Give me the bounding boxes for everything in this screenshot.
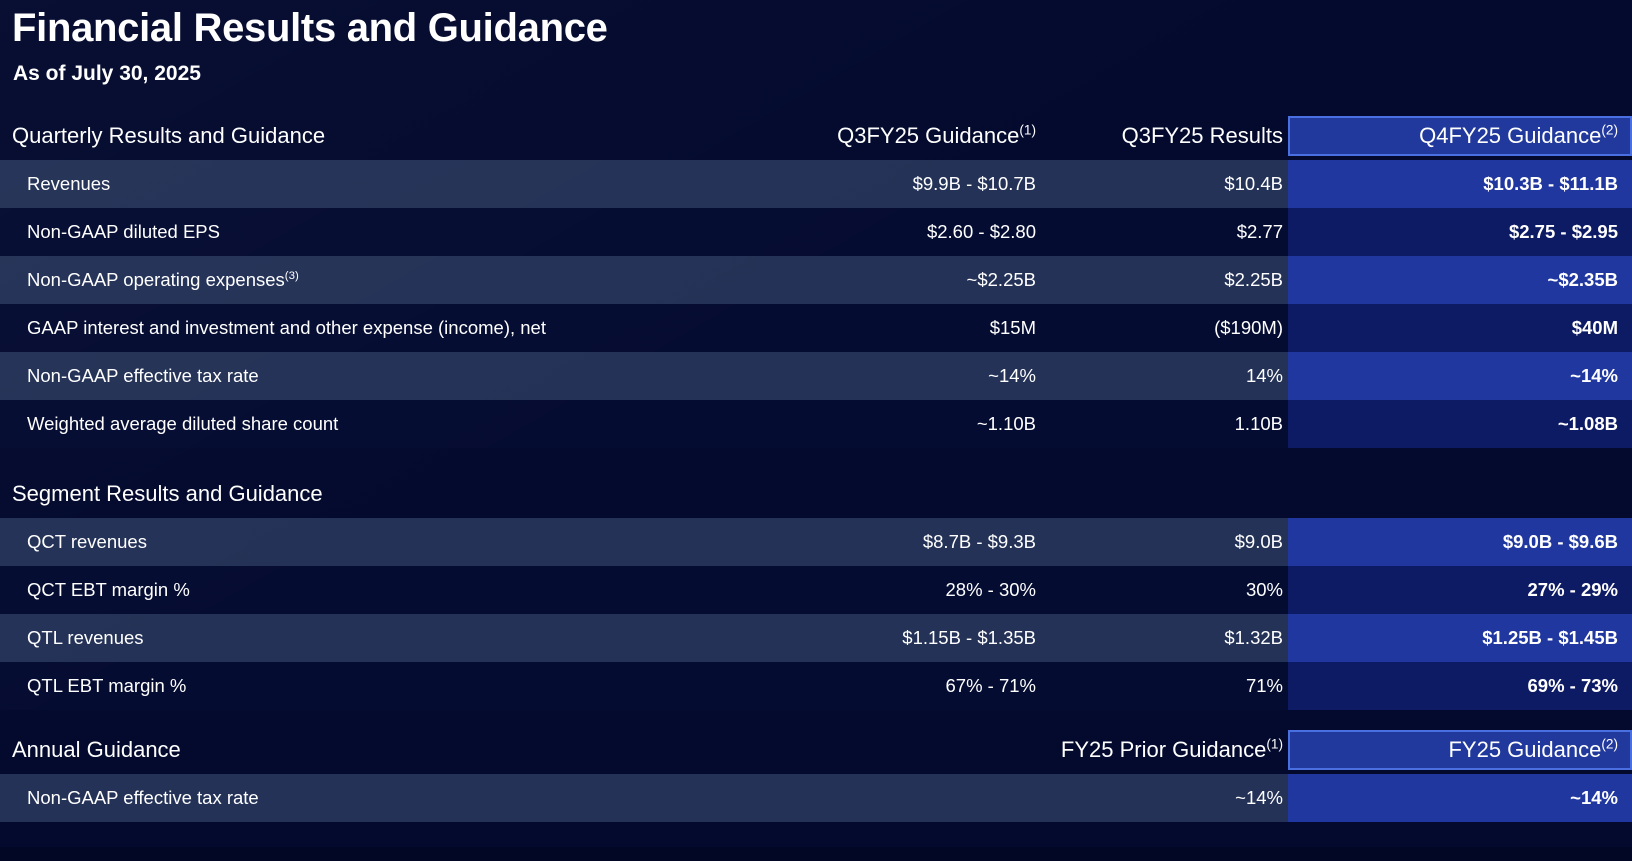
page-title: Financial Results and Guidance: [12, 2, 608, 54]
row-label: Revenues: [0, 173, 810, 195]
footnote-marker-3: (3): [285, 270, 299, 282]
quarterly-results-table: Quarterly Results and Guidance Q3FY25 Gu…: [0, 112, 1632, 448]
column-header-q3-guidance-text: Q3FY25 Guidance: [837, 123, 1019, 148]
column-header-q4-guidance-text: Q4FY25 Guidance: [1419, 123, 1601, 148]
row-value-results: $2.25B: [1036, 269, 1288, 291]
row-value-results: $1.32B: [1036, 627, 1288, 649]
table-row: QTL revenues$1.15B - $1.35B$1.32B$1.25B …: [0, 614, 1632, 662]
row-value-next-guidance: ~14%: [1288, 365, 1632, 387]
footnote-marker-2-annual: (2): [1601, 737, 1618, 752]
column-header-fy25-current-text: FY25 Guidance: [1448, 737, 1601, 762]
slide-root: Financial Results and Guidance As of Jul…: [0, 0, 1632, 861]
page-subtitle: As of July 30, 2025: [13, 60, 201, 88]
segment-header-row: Segment Results and Guidance: [0, 470, 1632, 518]
table-row: Weighted average diluted share count~1.1…: [0, 400, 1632, 448]
row-label-text: Revenues: [27, 173, 110, 194]
row-label-text: Weighted average diluted share count: [27, 413, 338, 434]
table-row: QCT revenues$8.7B - $9.3B$9.0B$9.0B - $9…: [0, 518, 1632, 566]
quarterly-header-row: Quarterly Results and Guidance Q3FY25 Gu…: [0, 112, 1632, 160]
row-value-next-guidance: $1.25B - $1.45B: [1288, 627, 1632, 649]
row-label: Non-GAAP operating expenses(3): [0, 269, 810, 291]
column-header-fy25-prior: FY25 Prior Guidance(1): [1036, 737, 1288, 763]
column-header-fy25-prior-text: FY25 Prior Guidance: [1061, 737, 1266, 762]
row-value-guidance: ~14%: [810, 365, 1036, 387]
row-label: QCT revenues: [0, 531, 810, 553]
row-value-next-guidance: $2.75 - $2.95: [1288, 221, 1632, 243]
column-header-q3-guidance: Q3FY25 Guidance(1): [810, 123, 1036, 149]
row-label-text: Non-GAAP diluted EPS: [27, 221, 220, 242]
row-value-guidance: $8.7B - $9.3B: [810, 531, 1036, 553]
row-value-next-guidance: $10.3B - $11.1B: [1288, 173, 1632, 195]
row-value-next-guidance: 69% - 73%: [1288, 675, 1632, 697]
row-label: Non-GAAP diluted EPS: [0, 221, 810, 243]
row-label: Non-GAAP effective tax rate: [0, 787, 810, 809]
segment-section-label: Segment Results and Guidance: [0, 481, 810, 507]
column-header-q3-results: Q3FY25 Results: [1036, 123, 1288, 149]
row-value-results: $9.0B: [1036, 531, 1288, 553]
row-value-next-guidance: ~$2.35B: [1288, 269, 1632, 291]
table-row: QTL EBT margin %67% - 71%71%69% - 73%: [0, 662, 1632, 710]
row-value-results: 71%: [1036, 675, 1288, 697]
footnote-marker-2: (2): [1601, 123, 1618, 138]
footnote-marker-1-annual: (1): [1266, 737, 1283, 752]
row-label: Non-GAAP effective tax rate: [0, 365, 810, 387]
row-label: GAAP interest and investment and other e…: [0, 317, 810, 339]
table-row: Revenues$9.9B - $10.7B$10.4B$10.3B - $11…: [0, 160, 1632, 208]
row-value-next-guidance: ~1.08B: [1288, 413, 1632, 435]
row-label-text: GAAP interest and investment and other e…: [27, 317, 546, 338]
column-header-q4-guidance: Q4FY25 Guidance(2): [1288, 123, 1632, 149]
row-value-results: ~14%: [1036, 787, 1288, 809]
row-value-next-guidance: $40M: [1288, 317, 1632, 339]
row-label-text: Non-GAAP effective tax rate: [27, 787, 259, 808]
row-label: Weighted average diluted share count: [0, 413, 810, 435]
row-value-guidance: $1.15B - $1.35B: [810, 627, 1036, 649]
row-label: QCT EBT margin %: [0, 579, 810, 601]
row-label-text: Non-GAAP operating expenses: [27, 269, 285, 290]
annual-header-row: Annual Guidance FY25 Prior Guidance(1) F…: [0, 726, 1632, 774]
row-value-guidance: 28% - 30%: [810, 579, 1036, 601]
row-value-guidance: $9.9B - $10.7B: [810, 173, 1036, 195]
row-value-guidance: ~1.10B: [810, 413, 1036, 435]
table-row: Non-GAAP effective tax rate~14%~14%: [0, 774, 1632, 822]
row-value-next-guidance: ~14%: [1288, 787, 1632, 809]
row-value-guidance: 67% - 71%: [810, 675, 1036, 697]
row-value-guidance: ~$2.25B: [810, 269, 1036, 291]
row-label: QTL revenues: [0, 627, 810, 649]
row-label-text: Non-GAAP effective tax rate: [27, 365, 259, 386]
row-value-results: ($190M): [1036, 317, 1288, 339]
row-value-next-guidance: 27% - 29%: [1288, 579, 1632, 601]
footnote-marker-1: (1): [1019, 123, 1036, 138]
row-label: QTL EBT margin %: [0, 675, 810, 697]
row-value-results: $10.4B: [1036, 173, 1288, 195]
row-value-results: 1.10B: [1036, 413, 1288, 435]
row-value-guidance: $15M: [810, 317, 1036, 339]
row-label-text: QCT EBT margin %: [27, 579, 190, 600]
table-row: Non-GAAP operating expenses(3)~$2.25B$2.…: [0, 256, 1632, 304]
row-label-text: QTL revenues: [27, 627, 144, 648]
column-header-fy25-current: FY25 Guidance(2): [1288, 737, 1632, 763]
table-row: Non-GAAP effective tax rate~14%14%~14%: [0, 352, 1632, 400]
row-value-next-guidance: $9.0B - $9.6B: [1288, 531, 1632, 553]
bottom-bar: [0, 847, 1632, 861]
row-label-text: QCT revenues: [27, 531, 147, 552]
row-value-results: 14%: [1036, 365, 1288, 387]
annual-section-label: Annual Guidance: [0, 737, 810, 763]
table-row: QCT EBT margin %28% - 30%30%27% - 29%: [0, 566, 1632, 614]
segment-results-table: Segment Results and Guidance QCT revenue…: [0, 470, 1632, 710]
table-row: Non-GAAP diluted EPS$2.60 - $2.80$2.77$2…: [0, 208, 1632, 256]
quarterly-section-label: Quarterly Results and Guidance: [0, 123, 810, 149]
row-label-text: QTL EBT margin %: [27, 675, 186, 696]
row-value-results: 30%: [1036, 579, 1288, 601]
row-value-results: $2.77: [1036, 221, 1288, 243]
row-value-guidance: $2.60 - $2.80: [810, 221, 1036, 243]
table-row: GAAP interest and investment and other e…: [0, 304, 1632, 352]
annual-guidance-table: Annual Guidance FY25 Prior Guidance(1) F…: [0, 726, 1632, 822]
